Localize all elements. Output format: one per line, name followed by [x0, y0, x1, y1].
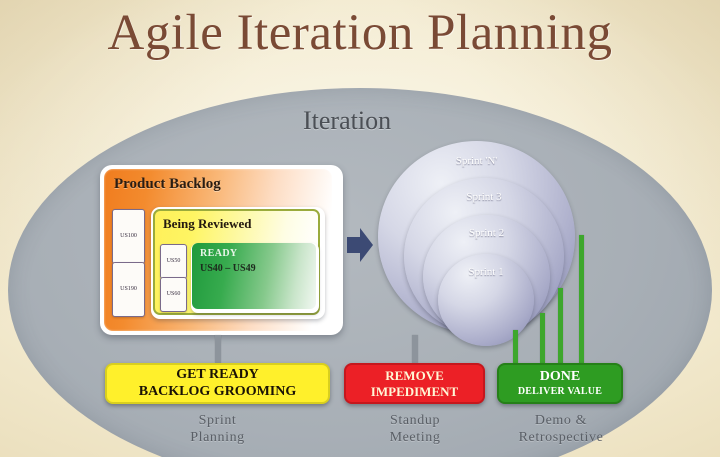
ceremony-line-1: DONE	[540, 369, 580, 386]
ceremony-box-remove-impediment[interactable]: REMOVE IMPEDIMENT	[344, 363, 485, 404]
story-card: US50	[160, 244, 187, 279]
sprint-label-1: Sprint 1	[438, 266, 534, 278]
ceremony-line-2: IMPEDIMENT	[371, 384, 458, 399]
ceremony-line-2: DELIVER VALUE	[518, 386, 602, 398]
ready-panel: READY US40 – US49	[192, 243, 316, 309]
ceremony-line-1: GET READY	[176, 367, 259, 384]
sprint-label-n: Sprint 'N'	[378, 155, 575, 167]
caption-line-2: Planning	[150, 429, 285, 446]
value-bar-2	[540, 313, 545, 363]
story-card-label: US60	[161, 291, 186, 297]
ready-status-label: READY	[200, 248, 238, 259]
iteration-label: Iteration	[303, 106, 391, 136]
sprint-label-2: Sprint 2	[423, 227, 550, 239]
connector-stem-planning	[215, 335, 221, 363]
story-card-label: US190	[113, 286, 144, 292]
story-card-label: US50	[161, 258, 186, 264]
caption-line-2: Retrospective	[487, 429, 635, 446]
ceremony-box-done[interactable]: DONE DELIVER VALUE	[497, 363, 623, 404]
value-bar-1	[513, 330, 518, 363]
value-bar-4	[579, 235, 584, 363]
ceremony-line-1: REMOVE	[385, 368, 444, 383]
caption-line-1: Sprint	[150, 412, 285, 429]
product-backlog-title: Product Backlog	[114, 176, 221, 193]
story-card: US60	[160, 277, 187, 312]
story-card: US190	[112, 262, 145, 317]
ceremony-box-get-ready[interactable]: GET READY BACKLOG GROOMING	[105, 363, 330, 404]
flow-arrow-icon	[347, 228, 373, 262]
poster-canvas: Agile Iteration Planning Iteration Sprin…	[0, 0, 720, 457]
caption-demo-retrospective: Demo & Retrospective	[487, 412, 635, 446]
being-reviewed-title: Being Reviewed	[163, 216, 251, 232]
story-card: US100	[112, 209, 145, 264]
sprint-circle-1: Sprint 1	[438, 254, 534, 346]
caption-sprint-planning: Sprint Planning	[150, 412, 285, 446]
story-card-label: US100	[113, 233, 144, 239]
ceremony-line-2: BACKLOG GROOMING	[139, 384, 297, 401]
caption-line-1: Demo &	[487, 412, 635, 429]
sprint-label-3: Sprint 3	[404, 191, 564, 203]
caption-standup-meeting: Standup Meeting	[355, 412, 475, 446]
product-backlog-panel: Product Backlog US100 US190 Being Review…	[104, 169, 332, 331]
page-title: Agile Iteration Planning	[0, 4, 720, 62]
value-bar-3	[558, 288, 563, 363]
caption-line-2: Meeting	[355, 429, 475, 446]
ready-story-range: US40 – US49	[200, 263, 256, 274]
connector-stem-standup	[412, 335, 418, 363]
caption-line-1: Standup	[355, 412, 475, 429]
